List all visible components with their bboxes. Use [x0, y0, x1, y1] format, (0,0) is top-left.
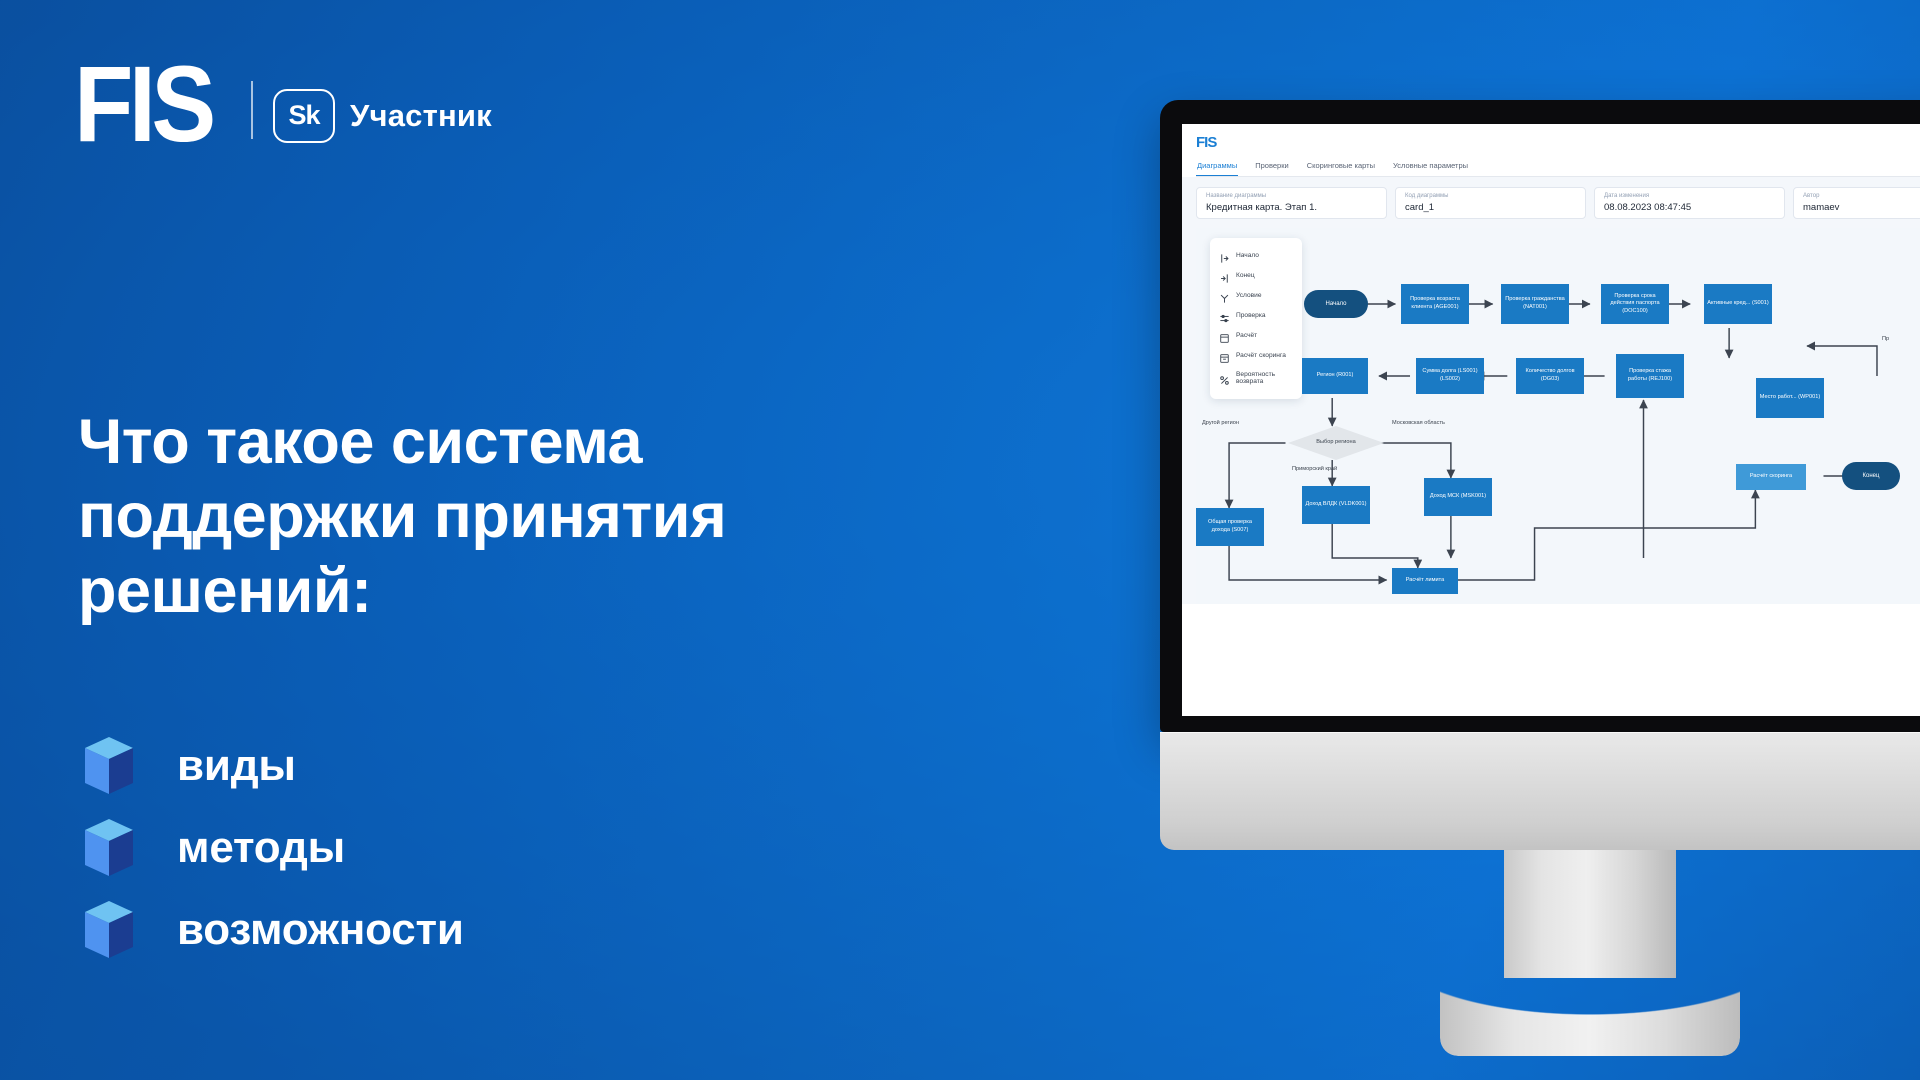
node-income-vldk[interactable]: Доход ВЛДК (VLDK001): [1302, 486, 1370, 524]
node-debt-sum[interactable]: Сумма долга (LS001) (LS002): [1416, 358, 1484, 394]
field-diagram-name[interactable]: Название диаграммы Кредитная карта. Этап…: [1196, 187, 1387, 219]
app-logo: FIS: [1196, 134, 1920, 151]
edge-label-primorsky-krai: Приморский край: [1292, 466, 1337, 472]
list-item: возможности: [80, 889, 464, 971]
bullet-list: виды методы возможности: [80, 725, 464, 971]
brand-lockup: FIS Sk Участник: [74, 60, 492, 149]
node-scoring-calc[interactable]: Расчёт скоринга: [1736, 464, 1806, 490]
skolkovo-lockup: Sk Участник: [273, 89, 492, 143]
tab-checks[interactable]: Проверки: [1254, 158, 1289, 176]
bullet-label: возможности: [177, 905, 464, 955]
field-modified-date[interactable]: Дата изменения 08.08.2023 08:47:45: [1594, 187, 1785, 219]
node-workplace[interactable]: Место работ... (WP001): [1756, 378, 1824, 418]
slide-root: FIS Sk Участник Что такое система поддер…: [0, 0, 1920, 1080]
sk-participant-label: Участник: [350, 98, 492, 134]
edge-label-province: Пр: [1882, 336, 1889, 342]
node-experience-check[interactable]: Проверка стажа работы (REJ100): [1616, 354, 1684, 398]
node-active-credits[interactable]: Активные кред... (S001): [1704, 284, 1772, 324]
flow-graph: Начало Проверка возраста клиента (AGE001…: [1196, 228, 1920, 604]
node-limit-calc[interactable]: Расчёт лимита: [1392, 568, 1458, 594]
app-tab-bar: Диаграммы Проверки Скоринговые карты Усл…: [1196, 158, 1920, 177]
field-value: 08.08.2023 08:47:45: [1604, 203, 1775, 213]
node-debt-count[interactable]: Количество долгов (DG03): [1516, 358, 1584, 394]
tab-conditional-params[interactable]: Условные параметры: [1392, 158, 1469, 176]
monitor-bezel: FIS Диаграммы Проверки Скоринговые карты…: [1160, 100, 1920, 732]
node-end[interactable]: Конец: [1842, 462, 1900, 490]
monitor-stand-neck: [1504, 850, 1676, 978]
bullet-label: виды: [177, 741, 296, 791]
diagram-canvas[interactable]: Начало Конец: [1196, 228, 1920, 604]
field-label: Автор: [1803, 193, 1920, 200]
cube-icon: [80, 735, 138, 797]
node-passport-check[interactable]: Проверка срока действия паспорта (DOC100…: [1601, 284, 1669, 324]
monitor-chin: [1160, 732, 1920, 850]
field-author[interactable]: Автор mamaev: [1793, 187, 1920, 219]
cube-icon: [80, 817, 138, 879]
node-citizenship-check[interactable]: Проверка гражданства (NAT001): [1501, 284, 1569, 324]
field-value: Кредитная карта. Этап 1.: [1206, 203, 1377, 213]
page-title: Что такое система поддержки принятия реш…: [78, 405, 1038, 628]
field-label: Название диаграммы: [1206, 193, 1377, 200]
bullet-label: методы: [177, 823, 345, 873]
fis-logo: FIS: [74, 60, 212, 149]
field-value: card_1: [1405, 203, 1576, 213]
monitor-mockup: FIS Диаграммы Проверки Скоринговые карты…: [1160, 100, 1920, 1056]
edge-label-other-region: Другой регион: [1202, 420, 1239, 426]
monitor-stand-foot: [1440, 978, 1740, 1056]
node-age-check[interactable]: Проверка возраста клиента (AGE001): [1401, 284, 1469, 324]
field-label: Код диаграммы: [1405, 193, 1576, 200]
node-region[interactable]: Регион (R001): [1302, 358, 1368, 394]
field-diagram-code[interactable]: Код диаграммы card_1: [1395, 187, 1586, 219]
app-screen: FIS Диаграммы Проверки Скоринговые карты…: [1182, 124, 1920, 716]
app-header: FIS Диаграммы Проверки Скоринговые карты…: [1182, 124, 1920, 177]
tab-scorecards[interactable]: Скоринговые карты: [1306, 158, 1376, 176]
edge-label-moscow-region: Московская область: [1392, 420, 1445, 426]
node-income-msk[interactable]: Доход МСК (MSK001): [1424, 478, 1492, 516]
diagram-meta-fields: Название диаграммы Кредитная карта. Этап…: [1196, 187, 1920, 219]
node-start[interactable]: Начало: [1304, 290, 1368, 318]
list-item: методы: [80, 807, 464, 889]
field-value: mamaev: [1803, 203, 1920, 213]
list-item: виды: [80, 725, 464, 807]
cube-icon: [80, 899, 138, 961]
tab-diagrams[interactable]: Диаграммы: [1196, 158, 1238, 176]
app-body: Название диаграммы Кредитная карта. Этап…: [1182, 177, 1920, 604]
brand-divider: [251, 81, 253, 139]
sk-badge: Sk: [273, 89, 335, 143]
field-label: Дата изменения: [1604, 193, 1775, 200]
node-income-general[interactable]: Общая проверка дохода (S007): [1196, 508, 1264, 546]
